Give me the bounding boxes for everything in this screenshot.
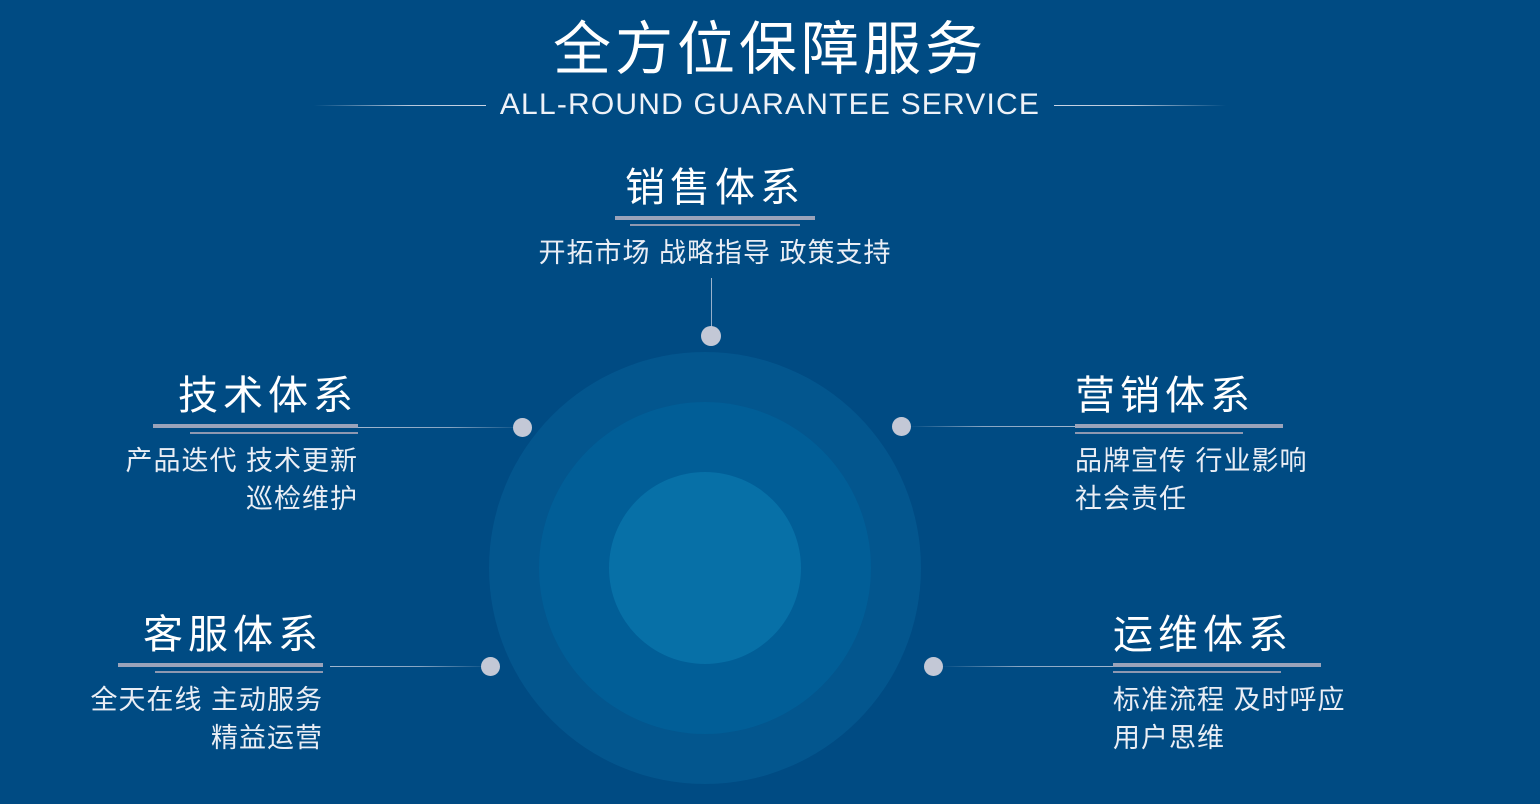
node-technology-description: 产品迭代 技术更新 巡检维护 [33,442,358,519]
node-customer-service-description: 全天在线 主动服务 精益运营 [8,681,323,758]
node-technology-desc-line-1: 产品迭代 技术更新 [33,442,358,480]
page-subtitle: ALL-ROUND GUARANTEE SERVICE [500,88,1040,122]
infographic-canvas: 全方位保障服务 ALL-ROUND GUARANTEE SERVICE 销售体系… [0,0,1540,804]
node-marketing-rule-thin [1075,432,1243,434]
subtitle-row: ALL-ROUND GUARANTEE SERVICE [0,88,1540,122]
node-marketing-rule-thick [1075,424,1283,428]
connector-dot-technology [513,418,532,437]
node-operations-rule-thick [1113,663,1321,667]
connector-dot-operations [924,657,943,676]
node-customer-service-rule-thin [155,671,323,673]
connector-dot-service [481,657,500,676]
node-marketing-description: 品牌宣传 行业影响 社会责任 [1075,442,1475,519]
node-sales-rule-thin [630,224,800,226]
node-sales-desc-line-1: 开拓市场 战略指导 政策支持 [495,234,935,272]
node-marketing[interactable]: 营销体系 品牌宣传 行业影响 社会责任 [1075,374,1475,519]
connector-line-technology [358,427,524,428]
node-technology-title: 技术体系 [33,374,358,418]
node-marketing-title: 营销体系 [1075,374,1475,418]
node-sales-title: 销售体系 [495,166,935,210]
node-sales[interactable]: 销售体系 开拓市场 战略指导 政策支持 [495,166,935,272]
connector-line-marketing [908,426,1075,427]
node-customer-service-desc-line-1: 全天在线 主动服务 [8,681,323,719]
subtitle-rule-right [1054,105,1226,106]
node-customer-service[interactable]: 客服体系 全天在线 主动服务 精益运营 [8,613,323,758]
node-marketing-desc-line-1: 品牌宣传 行业影响 [1075,442,1475,480]
node-customer-service-rule-thick [118,663,323,667]
node-technology-desc-line-2: 巡检维护 [33,480,358,518]
subtitle-rule-left [314,105,486,106]
connector-dot-marketing [892,417,911,436]
node-customer-service-desc-line-2: 精益运营 [8,719,323,757]
node-technology-rule-thin [190,432,358,434]
node-operations-rule-thin [1113,671,1281,673]
circle-inner [609,472,801,664]
connector-dot-sales [701,326,721,346]
header: 全方位保障服务 ALL-ROUND GUARANTEE SERVICE [0,0,1540,122]
node-technology-rule-thick [153,424,358,428]
node-customer-service-title: 客服体系 [8,613,323,657]
connector-line-operations [940,666,1115,667]
page-title: 全方位保障服务 [0,0,1540,84]
connector-line-sales [711,278,712,328]
node-marketing-desc-line-2: 社会责任 [1075,480,1475,518]
connector-line-service [330,666,492,667]
node-operations-title: 运维体系 [1113,613,1513,657]
node-operations-desc-line-2: 用户思维 [1113,719,1513,757]
node-technology[interactable]: 技术体系 产品迭代 技术更新 巡检维护 [33,374,358,519]
node-operations[interactable]: 运维体系 标准流程 及时呼应 用户思维 [1113,613,1513,758]
node-operations-desc-line-1: 标准流程 及时呼应 [1113,681,1513,719]
node-sales-rule-thick [615,216,815,220]
node-operations-description: 标准流程 及时呼应 用户思维 [1113,681,1513,758]
node-sales-description: 开拓市场 战略指导 政策支持 [495,234,935,272]
